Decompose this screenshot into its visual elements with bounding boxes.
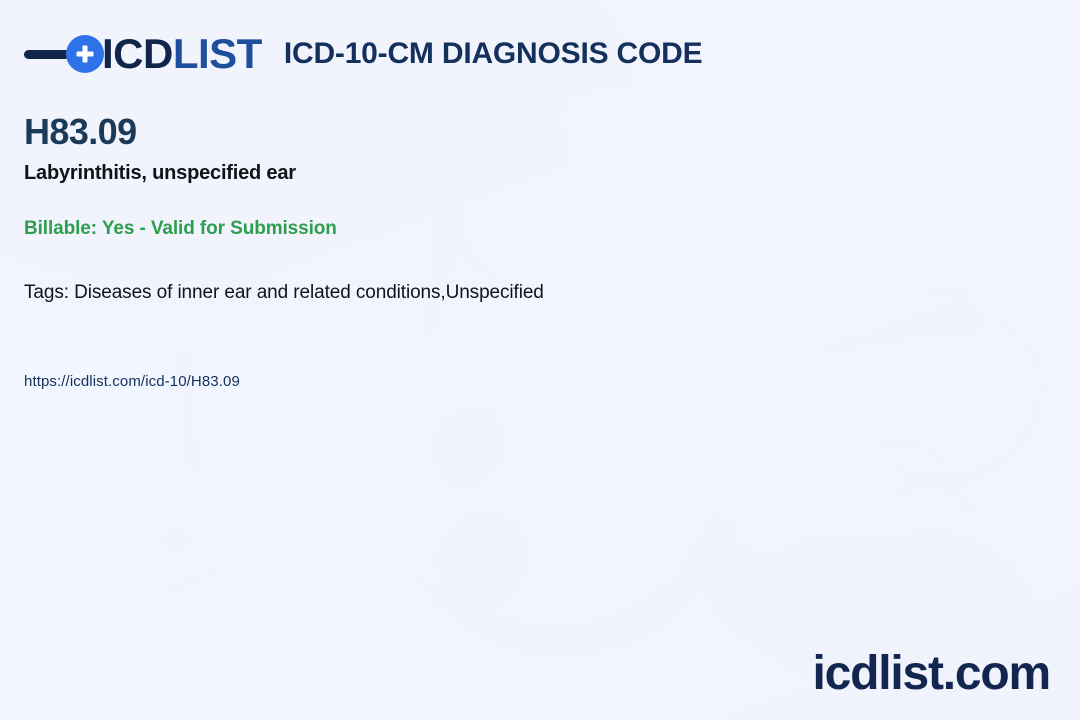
footer-brand[interactable]: icdlist.com [812,650,1050,698]
billable-status: Billable: Yes - Valid for Submission [24,218,1056,241]
diagnosis-code: H83.09 [24,112,1056,152]
icd-code-card: ICD LIST ICD-10-CM DIAGNOSIS CODE H83.09… [0,0,1080,720]
dash-icon [24,50,70,59]
code-details: H83.09 Labyrinthitis, unspecified ear Bi… [24,112,1056,391]
page-title: ICD-10-CM DIAGNOSIS CODE [284,39,703,69]
footer: icdlist.com [812,650,1050,698]
diagnosis-description: Labyrinthitis, unspecified ear [24,161,1056,185]
logo-word-icd: ICD [102,33,173,75]
icdlist-logo[interactable]: ICD LIST [24,28,262,80]
tags-line: Tags: Diseases of inner ear and related … [24,282,1056,305]
page-header: ICD LIST ICD-10-CM DIAGNOSIS CODE [24,28,1056,80]
logo-word-list: LIST [173,33,262,75]
plus-circle-icon [66,35,104,73]
source-url[interactable]: https://icdlist.com/icd-10/H83.09 [24,373,1056,391]
